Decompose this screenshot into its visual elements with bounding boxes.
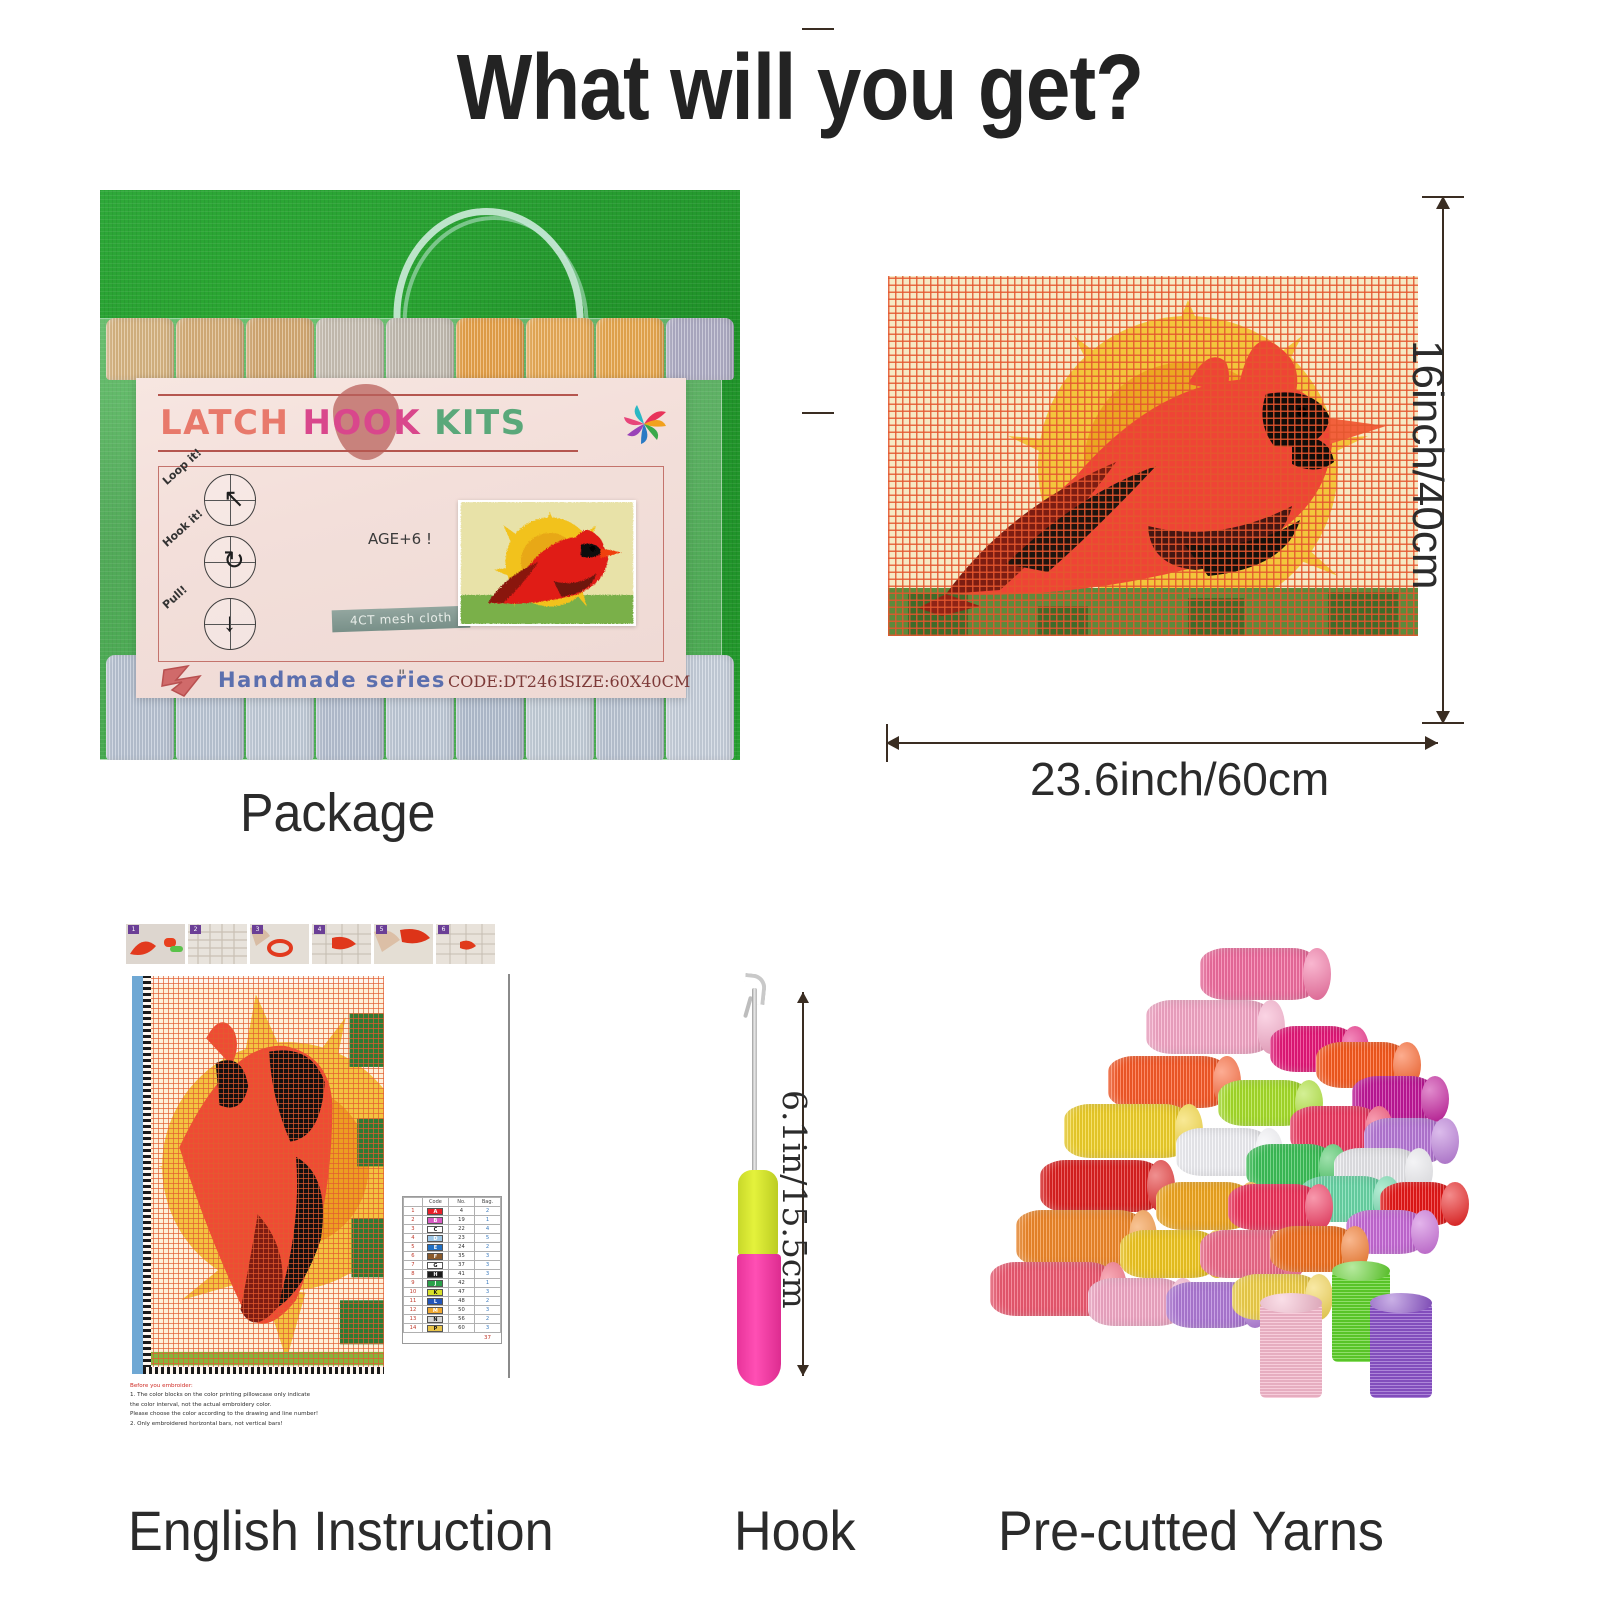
yarn-roll [106, 318, 174, 380]
notes-line-3: Please choose the color according to the… [130, 1410, 420, 1419]
thumb-number-badge: 4 [314, 925, 325, 934]
hook-shaft [752, 988, 757, 1180]
legend-number: 37 [448, 1261, 474, 1270]
pre-cut-yarn-pile [960, 930, 1460, 1400]
legend-index: 8 [404, 1270, 423, 1279]
step-diagram-icon: ↖ [204, 474, 256, 526]
thumb-number-badge: 5 [376, 925, 387, 934]
legend-swatch: H [427, 1271, 443, 1278]
label-steps: Loop it! ↖ Hook it! ↻ Pull! ↓ [170, 472, 290, 658]
legend-index: 6 [404, 1252, 423, 1261]
legend-row: 10K473 [404, 1288, 501, 1297]
legend-index: 12 [404, 1306, 423, 1315]
hook-handle-upper [738, 1170, 778, 1256]
legend-bag-count: 3 [474, 1306, 500, 1315]
legend-row: 4D235 [404, 1234, 501, 1243]
yarn-rolls-top-row [100, 318, 740, 380]
printed-canvas [888, 276, 1418, 636]
brand-word-latch: LATCH [160, 403, 289, 443]
legend-swatch: J [427, 1280, 443, 1287]
yarn-roll [386, 318, 454, 380]
legend-swatch: C [427, 1226, 443, 1233]
hook-dim-tick-top [802, 28, 834, 30]
legend-row: 5E242 [404, 1243, 501, 1252]
sheet-right-border [508, 974, 510, 1378]
legend-color-code: D [422, 1234, 448, 1243]
legend-bag-count: 2 [474, 1243, 500, 1252]
yarn-bundle [1228, 1184, 1320, 1230]
legend-number: 47 [448, 1288, 474, 1297]
legend-header-bag: Bag. [474, 1198, 500, 1207]
legend-bag-count: 3 [474, 1324, 500, 1333]
legend-swatch: K [427, 1289, 443, 1296]
legend-color-code: F [422, 1252, 448, 1261]
legend-swatch: G [427, 1262, 443, 1269]
pattern-chart [132, 976, 384, 1374]
yarn-roll [596, 318, 664, 380]
legend-bag-count: 1 [474, 1279, 500, 1288]
legend-swatch: M [427, 1307, 443, 1314]
notes-line-4: 2. Only embroidered horizontal bars, not… [130, 1420, 420, 1429]
legend-number: 60 [448, 1324, 474, 1333]
legend-row: 12M503 [404, 1306, 501, 1315]
yarn-bundle-top [1332, 1261, 1390, 1281]
legend-number: 22 [448, 1225, 474, 1234]
pinwheel-logo-icon [618, 398, 670, 450]
legend-number: 50 [448, 1306, 474, 1315]
legend-number: 24 [448, 1243, 474, 1252]
step-thumbnail: 4 [312, 924, 371, 964]
chart-ruler-bottom [143, 1367, 384, 1374]
step-thumbnail: 3 [250, 924, 309, 964]
legend-index: 7 [404, 1261, 423, 1270]
step-diagram-icon: ↓ [204, 598, 256, 650]
legend-index: 10 [404, 1288, 423, 1297]
brand-word-kits: KITS [434, 403, 527, 443]
legend-color-code: C [422, 1225, 448, 1234]
legend-bag-count: 2 [474, 1315, 500, 1324]
legend-row: 2B191 [404, 1216, 501, 1225]
legend-row: 7G373 [404, 1261, 501, 1270]
legend-bag-count: 1 [474, 1216, 500, 1225]
step-arrow-icon: ↻ [223, 547, 245, 573]
legend-swatch: D [427, 1235, 443, 1242]
zigzag-mark-icon [158, 662, 210, 700]
legend-header-code: Code [422, 1198, 448, 1207]
step-diagram-icon: ↻ [204, 536, 256, 588]
hook-length-label: 6.1in/15.5cm [775, 1090, 814, 1309]
legend-index: 2 [404, 1216, 423, 1225]
legend-color-code: K [422, 1288, 448, 1297]
legend-swatch: A [427, 1208, 443, 1215]
product-code-text: CODE:DT2461 [448, 672, 567, 691]
legend-color-code: E [422, 1243, 448, 1252]
caption-yarns: Pre-cutted Yarns [998, 1498, 1384, 1563]
yarn-bundle [1064, 1104, 1190, 1158]
color-legend-table: Code No. Bag. 1A422B1913C2244D2355E2426F… [402, 1196, 502, 1344]
legend-bag-count: 2 [474, 1207, 500, 1216]
label-rule-bottom [158, 450, 578, 452]
step-photo-strip: 1 2 3 4 [126, 924, 495, 964]
legend-swatch: E [427, 1244, 443, 1251]
legend-bag-count: 5 [474, 1234, 500, 1243]
legend-row: 14P603 [404, 1324, 501, 1333]
legend-table: Code No. Bag. 1A422B1913C2244D2355E2426F… [403, 1197, 501, 1333]
legend-header-row: Code No. Bag. [404, 1198, 501, 1207]
legend-bag-count: 3 [474, 1252, 500, 1261]
yarn-roll [176, 318, 244, 380]
legend-color-code: A [422, 1207, 448, 1216]
canvas-height-label: 16inch/40cm [1402, 340, 1452, 589]
thumb-number-badge: 6 [438, 925, 449, 934]
legend-color-code: G [422, 1261, 448, 1270]
yarn-bundle-end [1441, 1182, 1469, 1226]
legend-number: 41 [448, 1270, 474, 1279]
english-instruction-sheet: 1 2 3 4 [124, 898, 512, 1470]
legend-index: 3 [404, 1225, 423, 1234]
legend-number: 19 [448, 1216, 474, 1225]
yarn-bundle-upright [1260, 1302, 1322, 1398]
hook-dim-tick-bottom [802, 412, 834, 414]
yarn-bundle-end [1305, 1184, 1333, 1230]
legend-row: 13N562 [404, 1315, 501, 1324]
legend-color-code: P [422, 1324, 448, 1333]
step-thumbnail: 2 [188, 924, 247, 964]
legend-swatch: B [427, 1217, 443, 1224]
legend-bag-count: 4 [474, 1225, 500, 1234]
legend-header-no: No. [448, 1198, 474, 1207]
label-footer: Handmade series " CODE:DT2461 SIZE:60X40… [136, 666, 686, 698]
yarn-bundle-upright [1370, 1302, 1432, 1398]
package-photo: LATCH HOOK KITS Loop it! ↖ [100, 190, 740, 760]
chart-ruler-left [143, 976, 151, 1374]
caption-package: Package [240, 782, 435, 844]
legend-index: 14 [404, 1324, 423, 1333]
legend-index: 9 [404, 1279, 423, 1288]
legend-color-code: M [422, 1306, 448, 1315]
legend-row: 6F353 [404, 1252, 501, 1261]
legend-index: 11 [404, 1297, 423, 1306]
yarn-bundle [1108, 1056, 1228, 1108]
canvas-artwork [888, 276, 1418, 636]
legend-swatch: P [427, 1325, 443, 1332]
caption-hook: Hook [734, 1498, 856, 1563]
legend-color-code: H [422, 1270, 448, 1279]
legend-number: 48 [448, 1297, 474, 1306]
notes-heading: Before you embroider: [130, 1382, 420, 1391]
legend-number: 42 [448, 1279, 474, 1288]
step-thumbnail: 6 [436, 924, 495, 964]
yarn-bundle-end [1431, 1118, 1459, 1164]
legend-row: 3C224 [404, 1225, 501, 1234]
yarn-roll [246, 318, 314, 380]
legend-swatch: N [427, 1316, 443, 1323]
canvas-width-label: 23.6inch/60cm [1030, 752, 1329, 806]
legend-row: 1A42 [404, 1207, 501, 1216]
legend-color-code: B [422, 1216, 448, 1225]
legend-header-index [404, 1198, 423, 1207]
embroider-notes: Before you embroider: 1. The color block… [130, 1382, 420, 1429]
legend-color-code: L [422, 1297, 448, 1306]
thumb-number-badge: 1 [128, 925, 139, 934]
legend-row: 11L482 [404, 1297, 501, 1306]
legend-number: 23 [448, 1234, 474, 1243]
legend-bag-count: 3 [474, 1261, 500, 1270]
legend-swatch: L [427, 1298, 443, 1305]
notes-line-2: the color interval, not the actual embro… [130, 1401, 420, 1410]
step-thumbnail: 5 [374, 924, 433, 964]
legend-index: 5 [404, 1243, 423, 1252]
yarn-roll [316, 318, 384, 380]
step-pull: Pull! ↓ [170, 596, 290, 648]
step-hook: Hook it! ↻ [170, 534, 290, 586]
legend-color-code: N [422, 1315, 448, 1324]
dim-horizontal-arrow [886, 742, 1438, 744]
legend-total: 37 [403, 1333, 501, 1343]
yarn-bundle [1146, 1000, 1272, 1054]
caption-instruction: English Instruction [128, 1498, 554, 1563]
age-rating-text: AGE+6 ! [368, 530, 432, 548]
legend-row: 8H413 [404, 1270, 501, 1279]
legend-index: 13 [404, 1315, 423, 1324]
legend-number: 56 [448, 1315, 474, 1324]
yarn-bundle-end [1411, 1210, 1439, 1254]
thumb-number-badge: 2 [190, 925, 201, 934]
yarn-bundle [1200, 948, 1318, 1000]
brand-word-hook: HOOK [302, 403, 421, 443]
quote-mark: " [398, 666, 405, 685]
brand-title: LATCH HOOK KITS [160, 398, 580, 448]
legend-row: 9J421 [404, 1279, 501, 1288]
legend-color-code: J [422, 1279, 448, 1288]
legend-number: 4 [448, 1207, 474, 1216]
notes-line-1: 1. The color blocks on the color printin… [130, 1391, 420, 1400]
yarn-bundle-top [1260, 1293, 1322, 1313]
legend-bag-count: 3 [474, 1288, 500, 1297]
legend-index: 4 [404, 1234, 423, 1243]
step-arrow-icon: ↓ [223, 609, 236, 635]
finished-rug-preview [458, 500, 636, 626]
legend-index: 1 [404, 1207, 423, 1216]
yarn-bundle-top [1370, 1293, 1432, 1313]
yarn-bundle-end [1303, 948, 1331, 1000]
legend-bag-count: 3 [474, 1270, 500, 1279]
step-thumbnail: 1 [126, 924, 185, 964]
yarn-roll [666, 318, 734, 380]
legend-bag-count: 2 [474, 1297, 500, 1306]
series-text: Handmade series [218, 668, 446, 692]
yarn-roll [456, 318, 524, 380]
page-title: What will you get? [112, 34, 1488, 141]
product-size-text: SIZE:60X40CM [564, 672, 690, 691]
legend-swatch: F [427, 1253, 443, 1260]
yarn-roll [526, 318, 594, 380]
package-label: LATCH HOOK KITS Loop it! ↖ [136, 378, 686, 698]
thumb-number-badge: 3 [252, 925, 263, 934]
step-arrow-icon: ↖ [223, 485, 245, 511]
legend-number: 35 [448, 1252, 474, 1261]
yarn-bundle [1040, 1160, 1162, 1212]
yarn-bundle-end [1421, 1076, 1449, 1122]
